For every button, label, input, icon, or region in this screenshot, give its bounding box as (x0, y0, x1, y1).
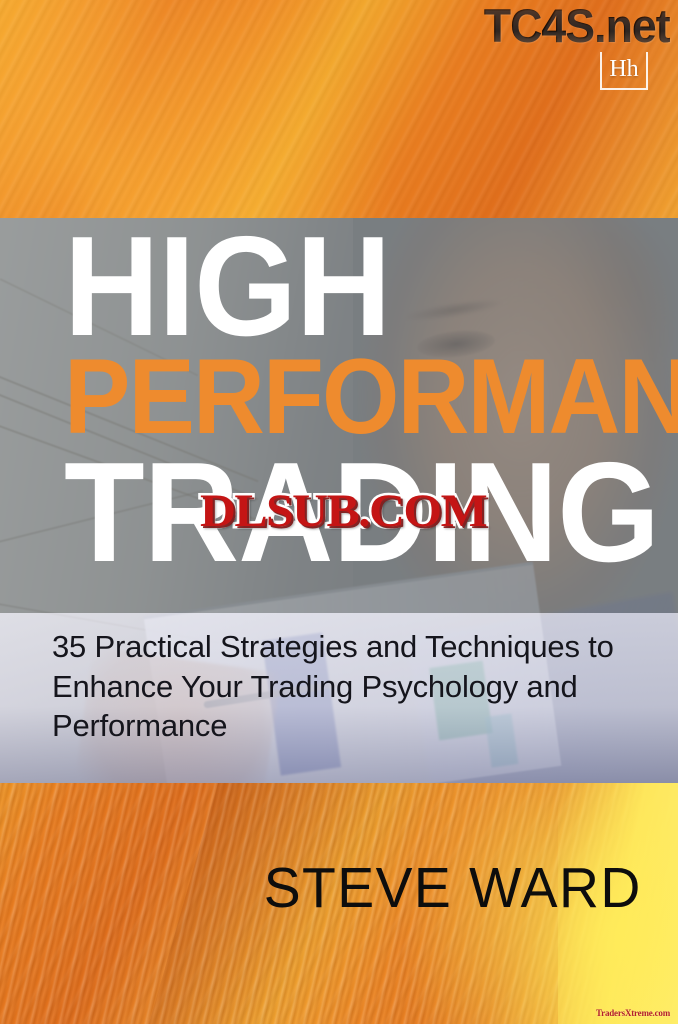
cover-author-name: STEVE WARD (264, 855, 642, 921)
watermark-bottom-right-text: TradersXtreme.com (596, 1008, 670, 1018)
watermark-hh-badge: Hh (600, 52, 648, 90)
title-line-high: HIGH (64, 227, 390, 346)
watermark-dlsub-text: DLSUB.COM (200, 484, 486, 538)
title-line-performance: PERFORMANCE (64, 352, 678, 442)
cover-subtitle: 35 Practical Strategies and Techniques t… (52, 627, 632, 746)
watermark-tc4s-text: TC4S.net (484, 2, 670, 49)
book-cover: HIGH PERFORMANCE TRADING 35 Practical St… (0, 0, 678, 1024)
watermark-top-right-group: TC4S.net Hh (474, 2, 670, 90)
